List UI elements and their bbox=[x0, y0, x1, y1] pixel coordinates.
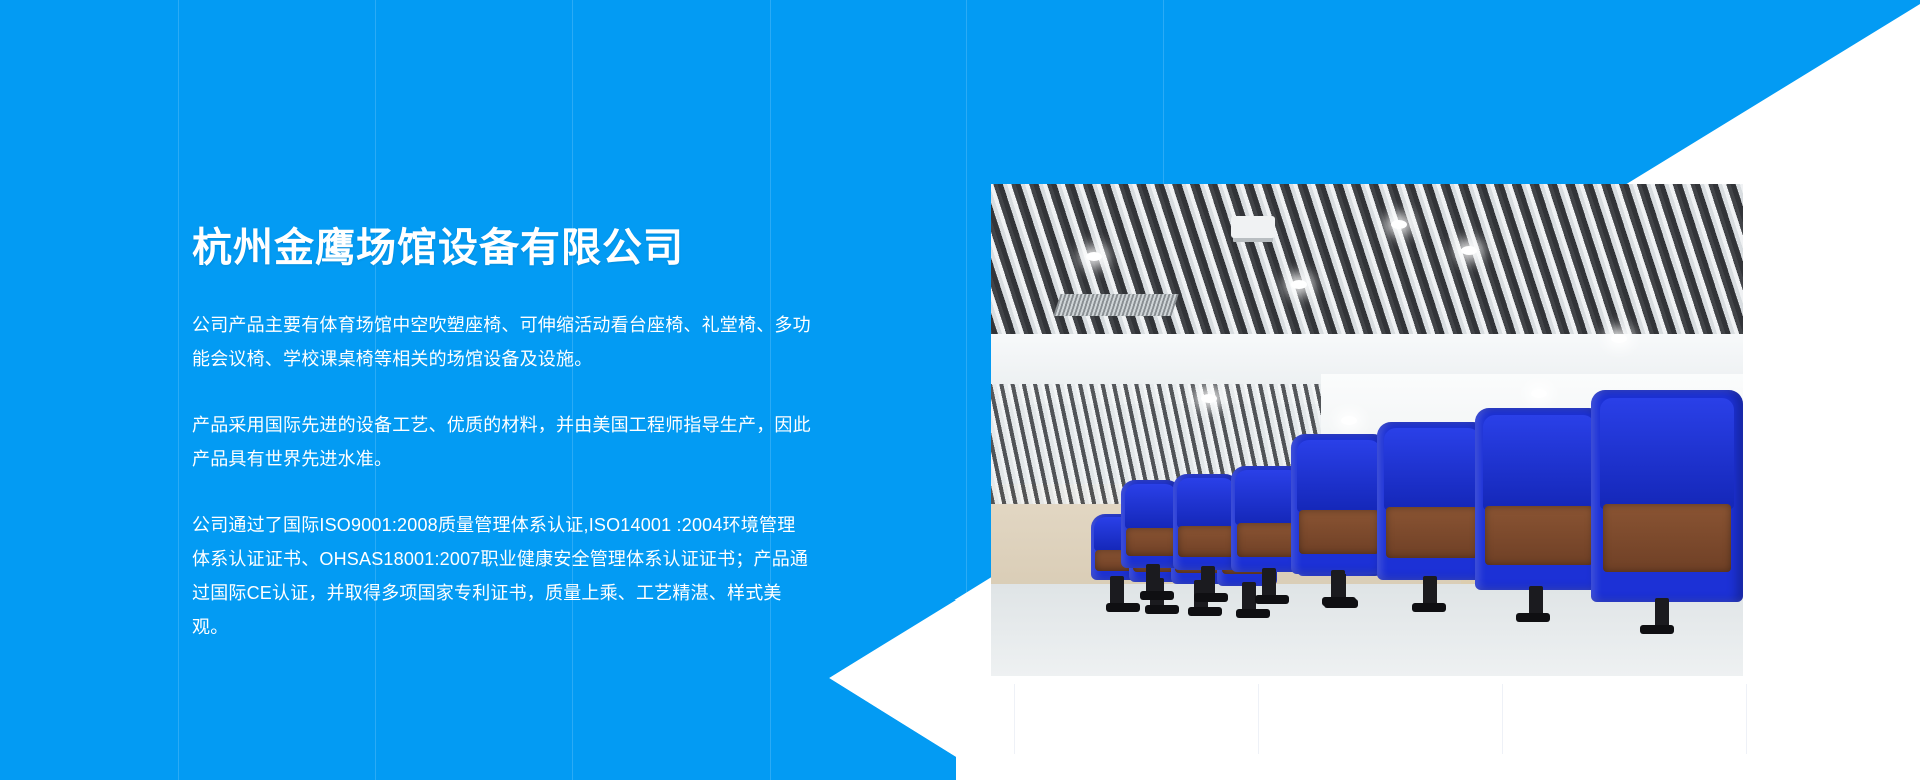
photo-seat bbox=[1377, 422, 1487, 580]
grid-line bbox=[1014, 684, 1015, 754]
photo-projector bbox=[1231, 216, 1275, 238]
grid-line bbox=[1502, 684, 1503, 754]
photo-ceiling-light bbox=[1391, 220, 1407, 229]
intro-paragraph-products: 公司产品主要有体育场馆中空吹塑座椅、可伸缩活动看台座椅、礼堂椅、多功能会议椅、学… bbox=[192, 308, 812, 376]
photo-ceiling-vent bbox=[1053, 294, 1178, 316]
photo-canvas bbox=[991, 184, 1743, 676]
photo-ceiling-light bbox=[1086, 252, 1102, 261]
photo-seat bbox=[1591, 390, 1743, 602]
photo-ceiling-light bbox=[1201, 394, 1217, 403]
photo-ceiling-light bbox=[1461, 246, 1477, 255]
intro-paragraph-quality: 产品采用国际先进的设备工艺、优质的材料，并由美国工程师指导生产，因此产品具有世界… bbox=[192, 408, 812, 476]
photo-seat bbox=[1173, 474, 1239, 570]
photo-ceiling-light bbox=[1341, 416, 1357, 425]
intro-paragraph-certifications: 公司通过了国际ISO9001:2008质量管理体系认证,ISO14001 :20… bbox=[192, 508, 812, 644]
photo-ceiling-light bbox=[1291, 280, 1307, 289]
photo-seat bbox=[1121, 480, 1181, 568]
auditorium-seating-photo bbox=[991, 184, 1743, 676]
company-title: 杭州金鹰场馆设备有限公司 bbox=[192, 224, 812, 272]
photo-seat bbox=[1475, 408, 1603, 590]
photo-seat bbox=[1291, 434, 1387, 574]
grid-line bbox=[1258, 684, 1259, 754]
banner-copy: 杭州金鹰场馆设备有限公司 公司产品主要有体育场馆中空吹塑座椅、可伸缩活动看台座椅… bbox=[192, 224, 812, 644]
photo-ceiling-light bbox=[1531, 389, 1547, 398]
promo-banner: 杭州金鹰场馆设备有限公司 公司产品主要有体育场馆中空吹塑座椅、可伸缩活动看台座椅… bbox=[0, 0, 1920, 780]
grid-line bbox=[1746, 684, 1747, 754]
photo-ceiling-light bbox=[1611, 334, 1627, 343]
